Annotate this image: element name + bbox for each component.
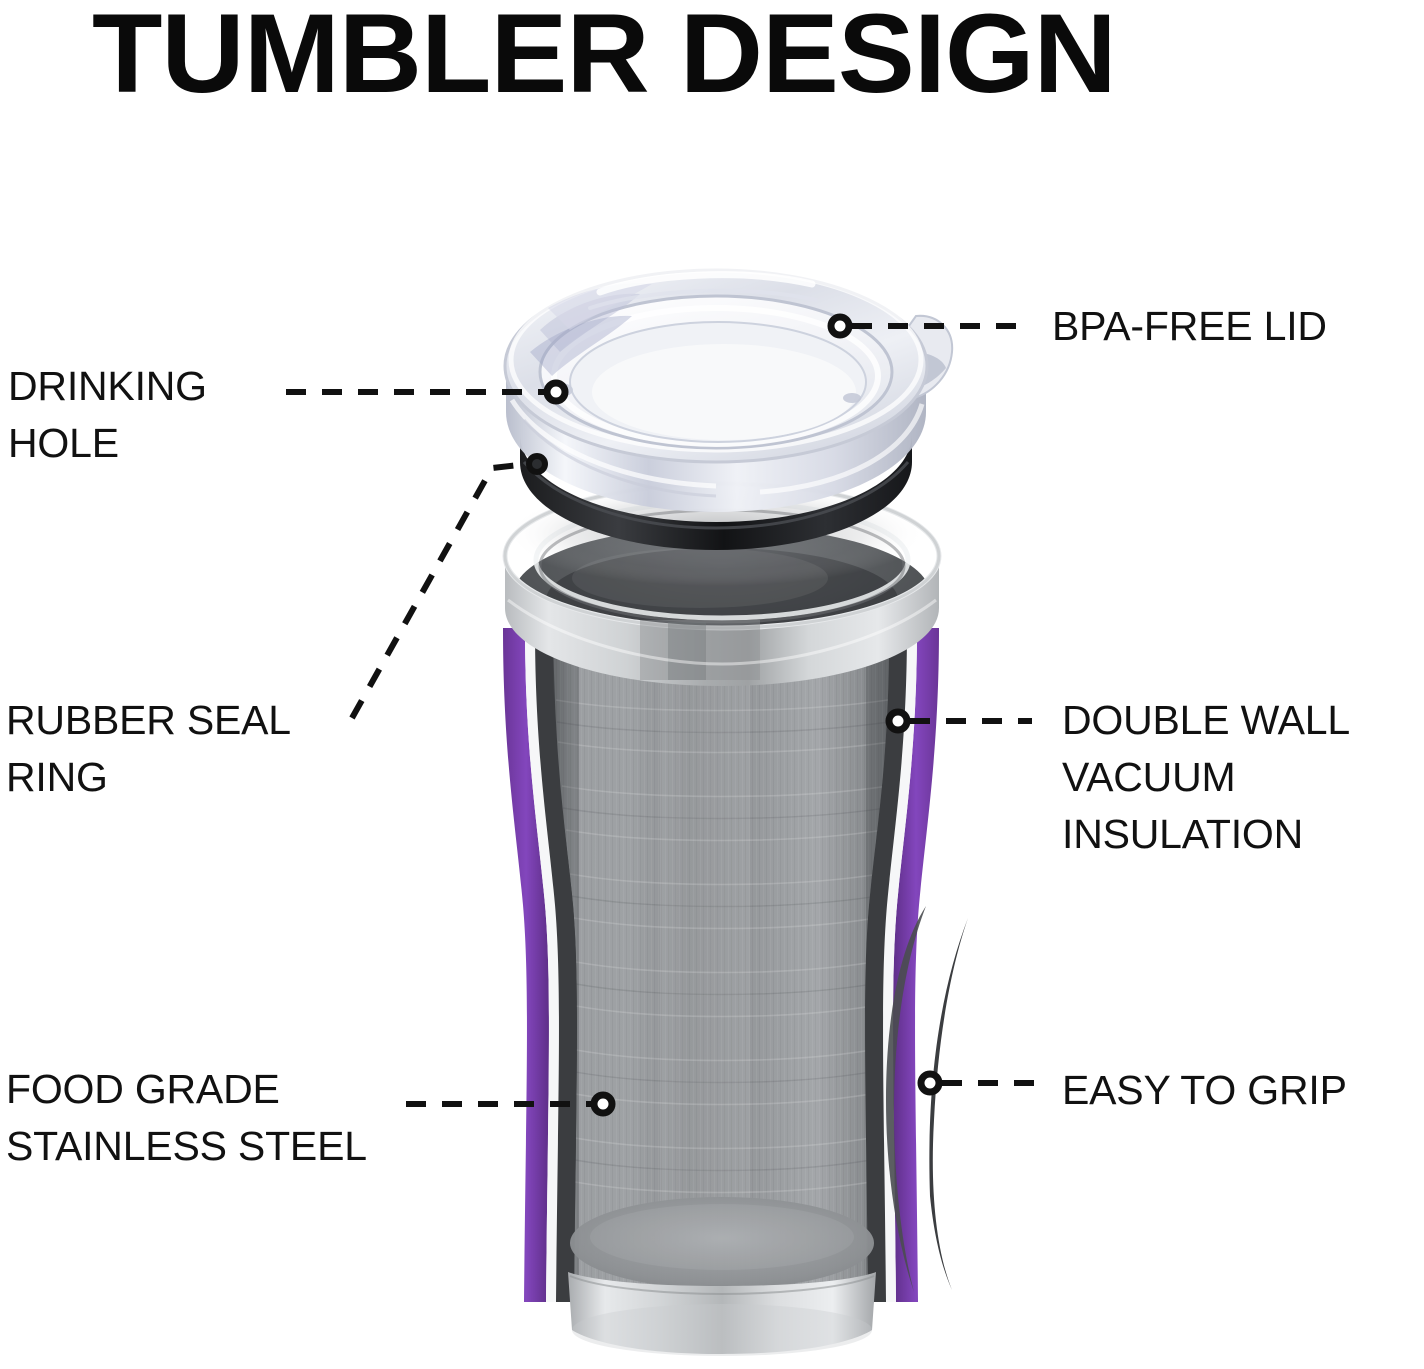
- callout-label-rubber-seal-ring: RUBBER SEAL RING: [6, 692, 366, 806]
- callout-label-double-wall-vacuum-insulation: DOUBLE WALL VACUUM INSULATION: [1062, 692, 1424, 863]
- callout-label-easy-to-grip: EASY TO GRIP: [1062, 1062, 1424, 1119]
- grip-contour-outer: [929, 918, 968, 1290]
- callout-label-bpa-free-lid: BPA-FREE LID: [1052, 298, 1422, 355]
- lid: [505, 270, 952, 586]
- callout-label-food-grade-stainless-steel: FOOD GRADE STAINLESS STEEL: [6, 1061, 446, 1175]
- callout-label-drinking-hole: DRINKING HOLE: [8, 358, 338, 472]
- tumbler-body: [503, 484, 968, 1356]
- infographic-canvas: TUMBLER DESIGN: [0, 0, 1424, 1369]
- lid-vent-hole: [843, 393, 861, 403]
